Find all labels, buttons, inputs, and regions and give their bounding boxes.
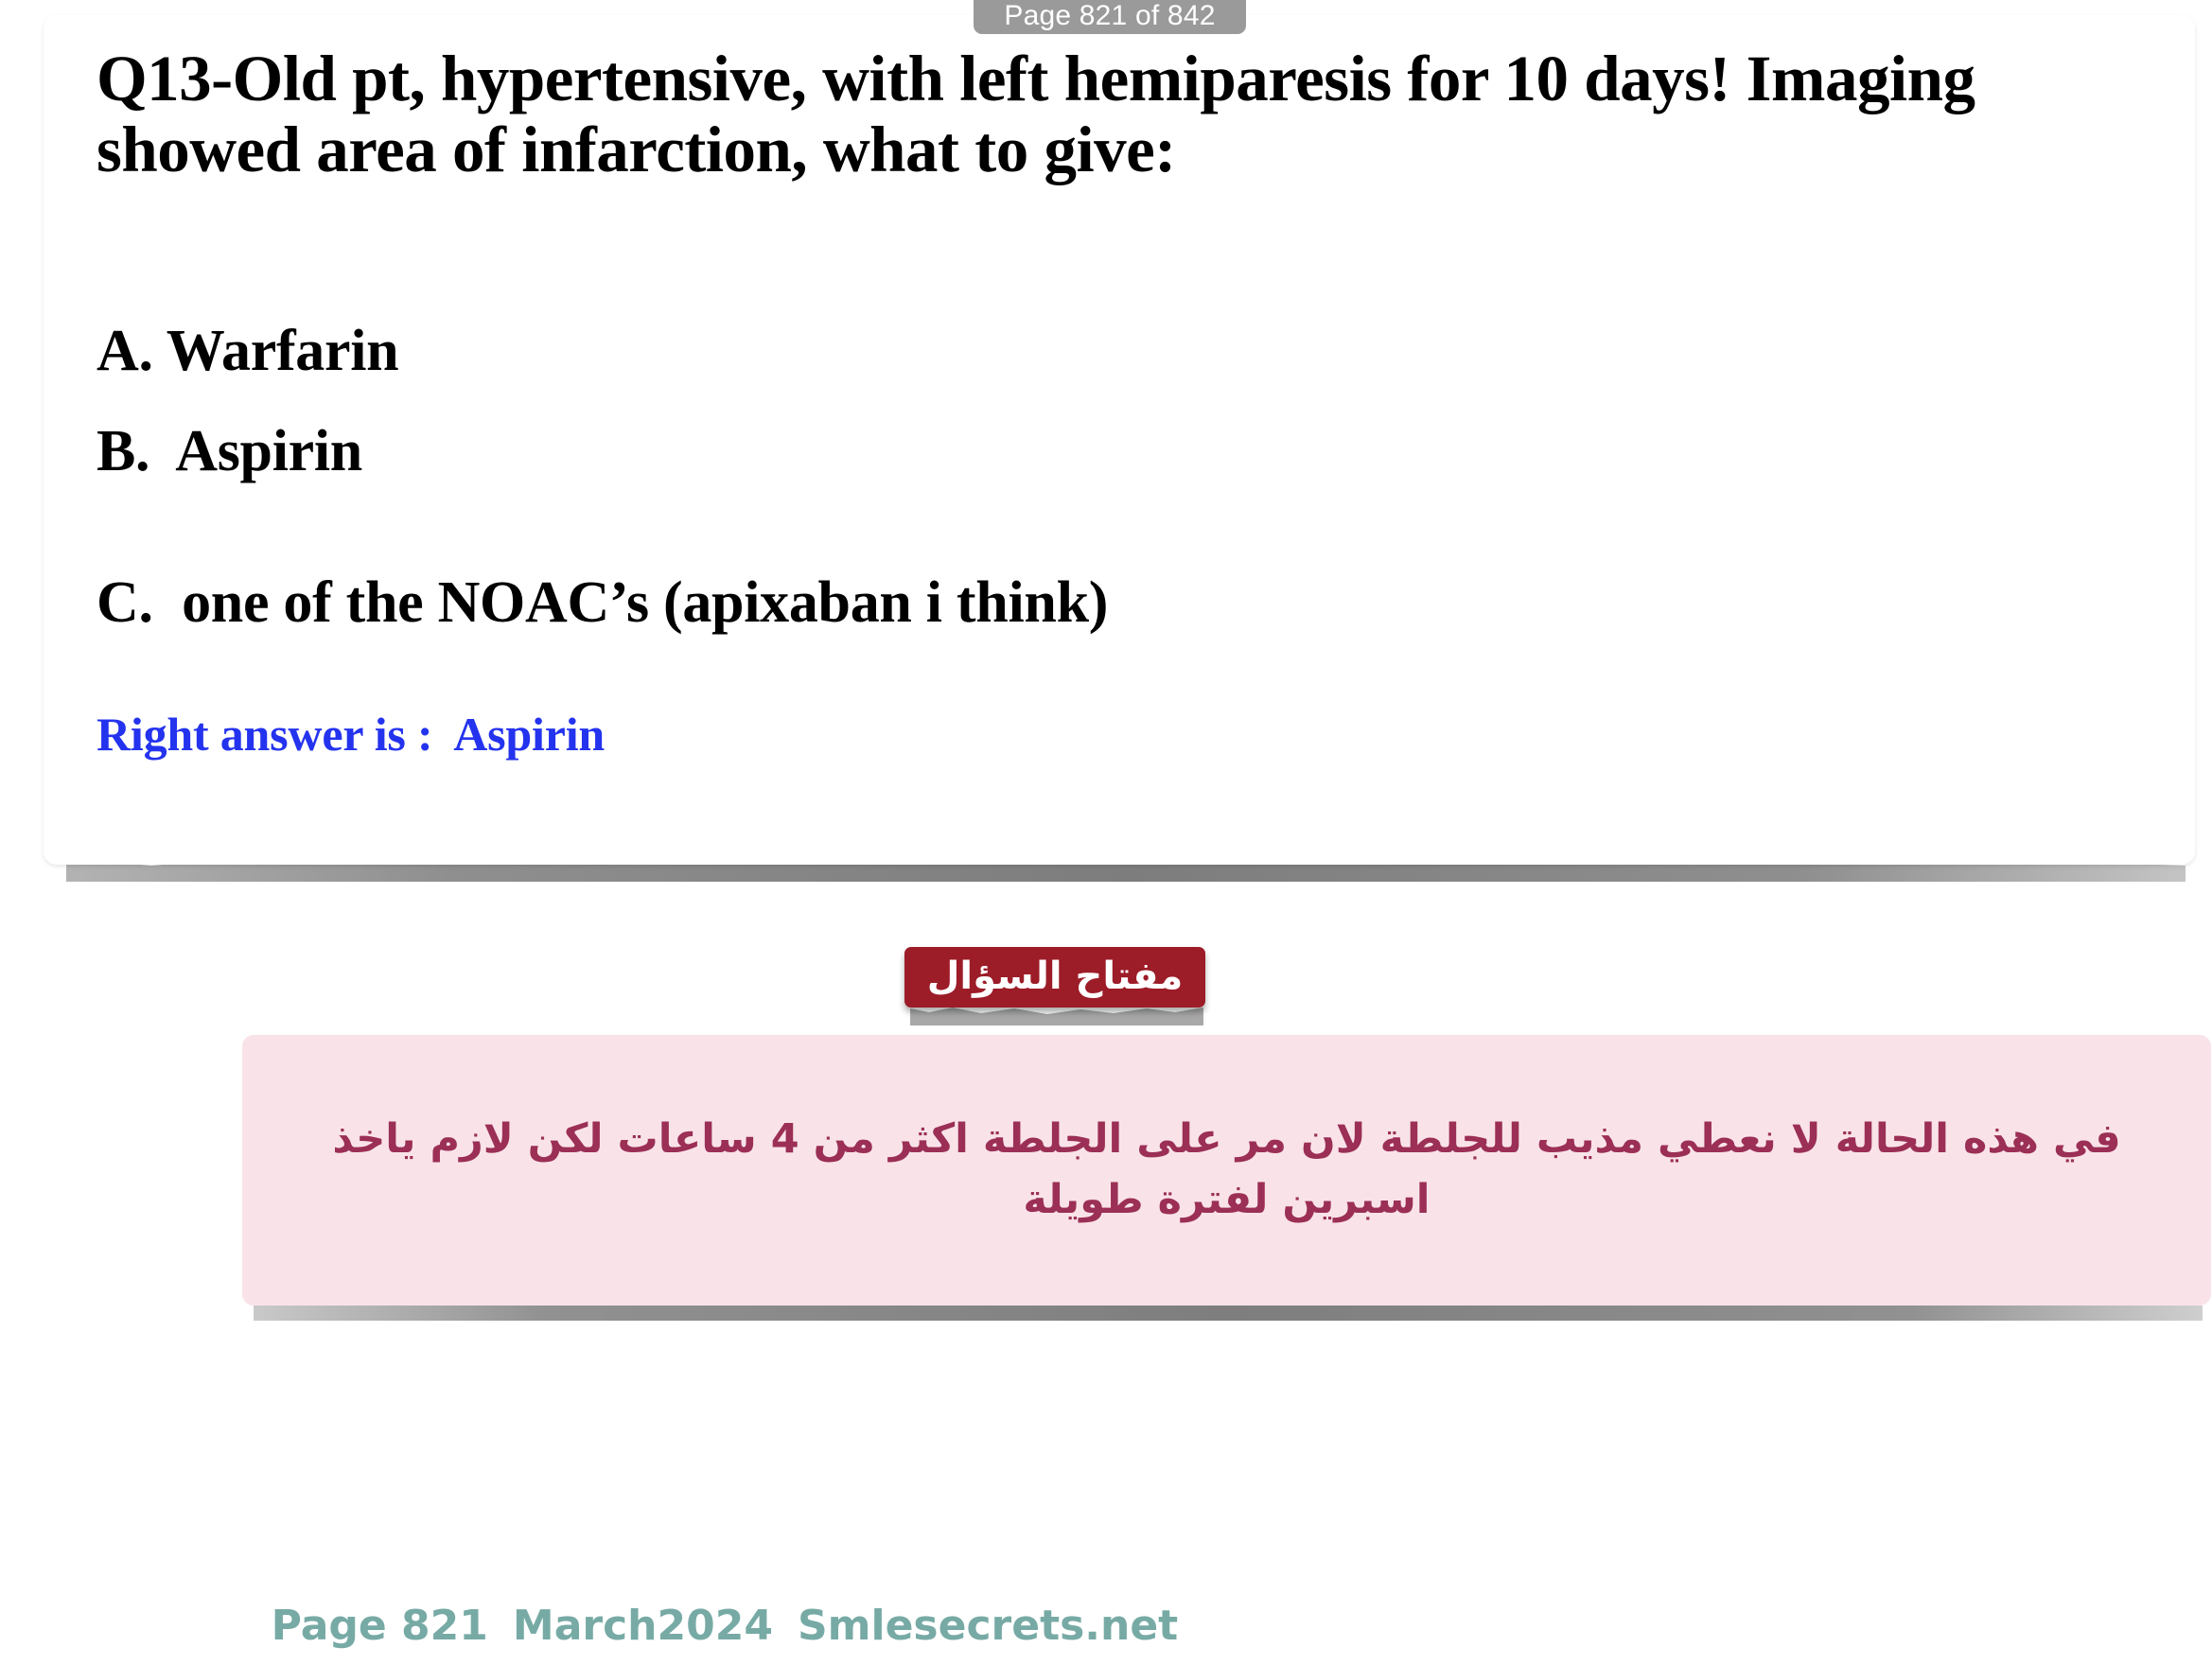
question-key-badge: مفتاح السؤال [904, 947, 1205, 1008]
footer-page: Page 821 [272, 1602, 488, 1650]
explanation-text: في هذه الحالة لا نعطي مذيب للجلطة لان مر… [262, 1110, 2192, 1230]
question-content: Q13-Old pt, hypertensive, with left hemi… [97, 44, 2157, 184]
question-card: Q13-Old pt, hypertensive, with left hemi… [44, 15, 2195, 865]
page-indicator-badge: Page 821 of 842 [974, 0, 1246, 34]
footer-date: March2024 [513, 1602, 773, 1650]
key-badge-torn-edge [910, 1005, 1203, 1025]
explanation-box: في هذه الحالة لا نعطي مذيب للجلطة لان مر… [242, 1035, 2211, 1306]
footer-site: Smlesecrets.net [798, 1602, 1178, 1650]
question-stem: Q13-Old pt, hypertensive, with left hemi… [97, 44, 2102, 184]
option-b[interactable]: B. Aspirin [97, 422, 362, 481]
footer: Page 821March2024Smlesecrets.net [242, 1564, 1178, 1647]
right-answer-line: Right answer is : Aspirin [97, 710, 605, 758]
option-c[interactable]: C. one of the NOAC’s (apixaban i think) [97, 573, 1108, 632]
option-a[interactable]: A. Warfarin [97, 322, 398, 380]
